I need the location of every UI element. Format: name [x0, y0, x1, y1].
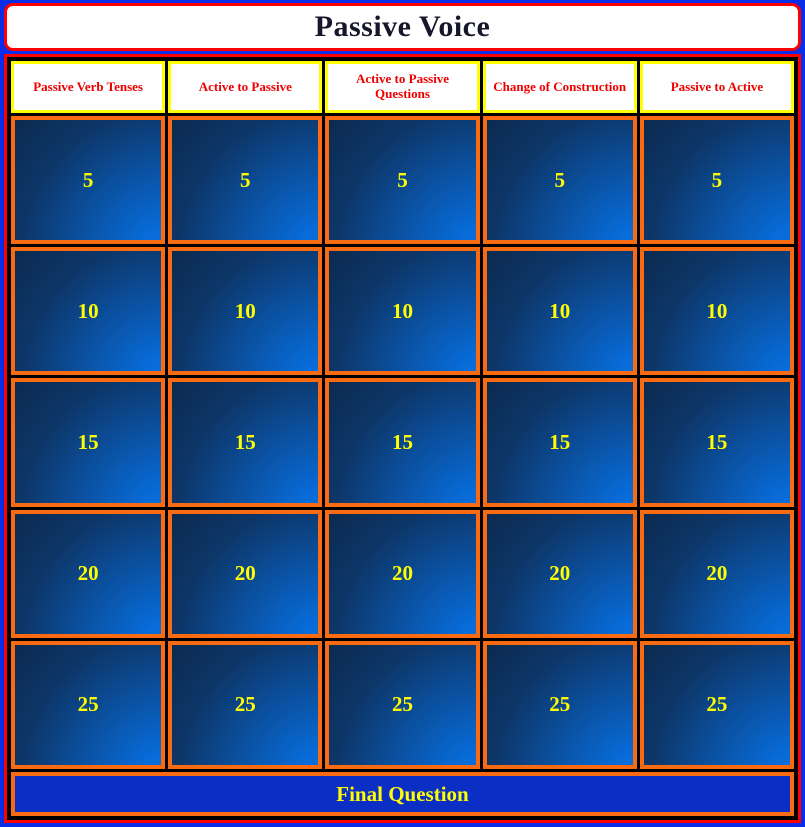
value-cell-c1-r2[interactable]: 10: [11, 247, 165, 375]
category-header-3: Active to Passive Questions: [325, 61, 479, 113]
value-label: 25: [235, 694, 256, 715]
value-cell-c3-r2[interactable]: 10: [325, 247, 479, 375]
value-label: 25: [549, 694, 570, 715]
value-label: 25: [78, 694, 99, 715]
value-label: 10: [392, 301, 413, 322]
value-label: 20: [235, 563, 256, 584]
value-row: 25 25 25 25 25: [11, 641, 794, 769]
value-label: 15: [549, 432, 570, 453]
page-title: Passive Voice: [315, 12, 491, 42]
value-cell-c3-r4[interactable]: 20: [325, 510, 479, 638]
category-header-row: Passive Verb Tenses Active to Passive Ac…: [11, 61, 794, 113]
value-label: 20: [78, 563, 99, 584]
value-cell-c4-r1[interactable]: 5: [483, 116, 637, 244]
value-label: 20: [549, 563, 570, 584]
value-grid: 5 5 5 5 5 10 10 10 10 10 15 15 15 15 15: [11, 116, 794, 772]
value-label: 10: [549, 301, 570, 322]
category-label: Passive Verb Tenses: [33, 80, 143, 95]
value-cell-c3-r3[interactable]: 15: [325, 378, 479, 506]
value-label: 10: [78, 301, 99, 322]
value-row: 15 15 15 15 15: [11, 378, 794, 506]
category-label: Active to Passive Questions: [331, 72, 473, 102]
value-label: 25: [706, 694, 727, 715]
value-label: 10: [706, 301, 727, 322]
value-cell-c1-r1[interactable]: 5: [11, 116, 165, 244]
value-label: 5: [83, 170, 94, 191]
value-label: 10: [235, 301, 256, 322]
value-cell-c4-r5[interactable]: 25: [483, 641, 637, 769]
value-label: 15: [392, 432, 413, 453]
value-cell-c2-r5[interactable]: 25: [168, 641, 322, 769]
value-label: 5: [554, 170, 565, 191]
value-label: 5: [397, 170, 408, 191]
value-label: 20: [706, 563, 727, 584]
jeopardy-board-page: Passive Voice Passive Verb Tenses Active…: [0, 0, 805, 827]
value-cell-c3-r1[interactable]: 5: [325, 116, 479, 244]
value-cell-c4-r4[interactable]: 20: [483, 510, 637, 638]
value-cell-c5-r4[interactable]: 20: [640, 510, 794, 638]
category-label: Passive to Active: [671, 80, 763, 95]
value-cell-c5-r2[interactable]: 10: [640, 247, 794, 375]
value-cell-c2-r3[interactable]: 15: [168, 378, 322, 506]
value-label: 15: [235, 432, 256, 453]
value-cell-c4-r2[interactable]: 10: [483, 247, 637, 375]
value-cell-c2-r1[interactable]: 5: [168, 116, 322, 244]
value-label: 15: [706, 432, 727, 453]
value-cell-c5-r5[interactable]: 25: [640, 641, 794, 769]
value-cell-c5-r1[interactable]: 5: [640, 116, 794, 244]
final-question-label: Final Question: [336, 784, 468, 805]
final-question-button[interactable]: Final Question: [11, 772, 794, 816]
title-banner: Passive Voice: [4, 3, 801, 51]
value-row: 5 5 5 5 5: [11, 116, 794, 244]
value-cell-c1-r5[interactable]: 25: [11, 641, 165, 769]
value-cell-c1-r4[interactable]: 20: [11, 510, 165, 638]
value-cell-c1-r3[interactable]: 15: [11, 378, 165, 506]
value-cell-c2-r2[interactable]: 10: [168, 247, 322, 375]
value-cell-c4-r3[interactable]: 15: [483, 378, 637, 506]
category-header-4: Change of Construction: [483, 61, 637, 113]
category-label: Active to Passive: [199, 80, 292, 95]
final-question-row: Final Question: [11, 772, 794, 816]
game-board: Passive Verb Tenses Active to Passive Ac…: [4, 54, 801, 823]
category-header-5: Passive to Active: [640, 61, 794, 113]
category-header-2: Active to Passive: [168, 61, 322, 113]
category-label: Change of Construction: [493, 80, 626, 95]
value-cell-c3-r5[interactable]: 25: [325, 641, 479, 769]
value-label: 5: [240, 170, 251, 191]
value-label: 15: [78, 432, 99, 453]
value-row: 10 10 10 10 10: [11, 247, 794, 375]
value-label: 25: [392, 694, 413, 715]
value-row: 20 20 20 20 20: [11, 510, 794, 638]
value-cell-c5-r3[interactable]: 15: [640, 378, 794, 506]
value-cell-c2-r4[interactable]: 20: [168, 510, 322, 638]
value-label: 20: [392, 563, 413, 584]
value-label: 5: [712, 170, 723, 191]
category-header-1: Passive Verb Tenses: [11, 61, 165, 113]
